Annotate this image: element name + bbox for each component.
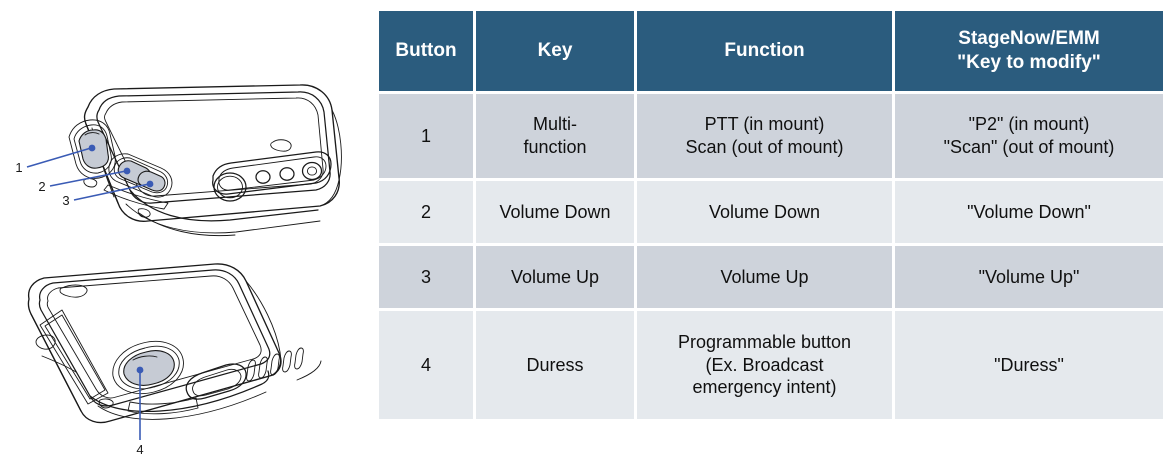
cell-function-line3: emergency intent) — [643, 376, 886, 399]
callout-label-2: 2 — [38, 179, 45, 194]
cell-key: Duress — [476, 311, 634, 419]
callout-label-4: 4 — [136, 442, 143, 457]
cell-function-line1: Programmable button — [643, 331, 886, 354]
table-row: 1 Multi- function PTT (in mount) Scan (o… — [379, 94, 1163, 178]
cell-stagenow: "Volume Down" — [895, 181, 1163, 243]
cell-button-number: 2 — [379, 181, 473, 243]
cell-function: Volume Down — [637, 181, 892, 243]
cell-stagenow-line2: "Scan" (out of mount) — [901, 136, 1157, 159]
column-header-stagenow-line2: "Key to modify" — [901, 51, 1157, 75]
callout-label-1: 1 — [15, 160, 22, 175]
side-tab-left — [84, 179, 97, 187]
callout-2-dot — [124, 168, 131, 175]
cell-key-line1: Multi- — [482, 113, 628, 136]
column-header-button: Button — [379, 11, 473, 91]
pogo-pin-5 — [295, 348, 304, 369]
cell-button-number: 4 — [379, 311, 473, 419]
table-header-row: Button Key Function StageNow/EMM "Key to… — [379, 11, 1163, 91]
device-body-outline — [85, 85, 340, 221]
column-header-function: Function — [637, 11, 892, 91]
column-header-stagenow: StageNow/EMM "Key to modify" — [895, 11, 1163, 91]
button-mapping-table: Button Key Function StageNow/EMM "Key to… — [376, 8, 1166, 422]
cell-key: Multi- function — [476, 94, 634, 178]
cell-key: Volume Down — [476, 181, 634, 243]
device-front-top-view: 1 2 3 — [15, 85, 341, 236]
cell-stagenow: "P2" (in mount) "Scan" (out of mount) — [895, 94, 1163, 178]
cell-stagenow: "Duress" — [895, 311, 1163, 419]
callout-label-3: 3 — [62, 193, 69, 208]
column-header-stagenow-line1: StageNow/EMM — [901, 27, 1157, 51]
device-illustration-panel: .ol { fill:none; stroke:#1a1a1a; stroke-… — [0, 0, 370, 458]
cell-function-line1: PTT (in mount) — [643, 113, 886, 136]
cell-function: PTT (in mount) Scan (out of mount) — [637, 94, 892, 178]
table-body: 1 Multi- function PTT (in mount) Scan (o… — [379, 94, 1163, 419]
cell-function-line2: (Ex. Broadcast — [643, 354, 886, 377]
table-row: 3 Volume Up Volume Up "Volume Up" — [379, 246, 1163, 308]
cell-key-line2: function — [482, 136, 628, 159]
table-row: 2 Volume Down Volume Down "Volume Down" — [379, 181, 1163, 243]
device2-right-edge2 — [297, 361, 321, 380]
table-header: Button Key Function StageNow/EMM "Key to… — [379, 11, 1163, 91]
pogo-pin-4 — [283, 351, 292, 372]
table-row: 4 Duress Programmable button (Ex. Broadc… — [379, 311, 1163, 419]
cell-button-number: 3 — [379, 246, 473, 308]
callout-3-dot — [147, 181, 154, 188]
callout-4-dot — [137, 367, 144, 374]
cell-button-number: 1 — [379, 94, 473, 178]
cell-function: Volume Up — [637, 246, 892, 308]
cell-function: Programmable button (Ex. Broadcast emerg… — [637, 311, 892, 419]
cell-function-line2: Scan (out of mount) — [643, 136, 886, 159]
device-illustration-svg: .ol { fill:none; stroke:#1a1a1a; stroke-… — [0, 0, 370, 458]
cell-key: Volume Up — [476, 246, 634, 308]
column-header-key: Key — [476, 11, 634, 91]
cell-stagenow-line1: "P2" (in mount) — [901, 113, 1157, 136]
callout-1-dot — [89, 145, 96, 152]
device-bottom-rear-view: 4 — [28, 264, 321, 457]
cell-stagenow: "Volume Up" — [895, 246, 1163, 308]
